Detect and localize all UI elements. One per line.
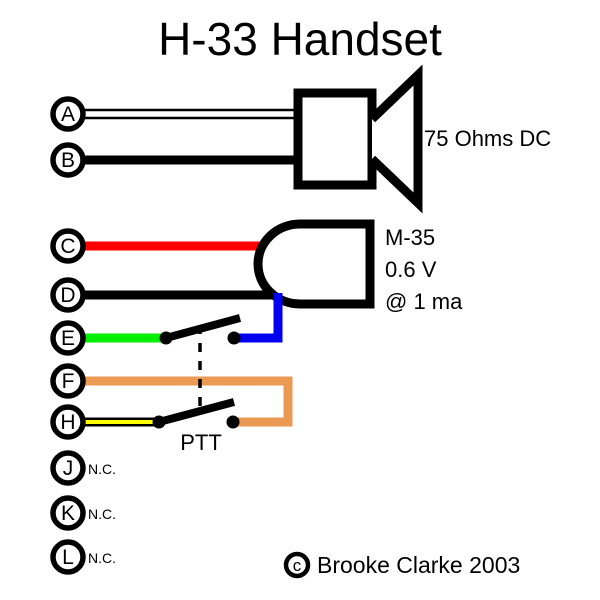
speaker-annotation: 75 Ohms DC [424,126,551,151]
microphone-body [258,224,370,304]
credit-line: c Brooke Clarke 2003 [286,552,520,578]
terminal-label: C [60,235,75,258]
terminal-label: F [62,370,75,393]
switch-contact-h-right [227,416,240,429]
terminal-label: E [61,327,75,350]
mic-annotation-model: M-35 [385,225,435,250]
terminal-d[interactable]: D [53,280,83,310]
speaker-body [298,93,372,185]
terminal-label: D [60,284,75,307]
terminal-a[interactable]: A [53,99,83,129]
speaker-group: 75 Ohms DC [84,75,551,203]
terminal-k[interactable]: K [53,498,83,528]
terminal-j[interactable]: J [53,453,83,483]
ptt-switch-group: PTT [84,293,288,455]
handset-wiring-diagram: H-33 Handset 75 Ohms DC M-35 [0,0,600,600]
terminal-c[interactable]: C [53,231,83,261]
wire-blue-to-mic [234,293,278,338]
mic-annotation-current: @ 1 ma [385,289,463,314]
nc-label-j: N.C. [88,461,116,477]
page-title: H-33 Handset [158,13,442,65]
terminal-f[interactable]: F [53,366,83,396]
terminal-label: H [60,411,75,434]
nc-label-k: N.C. [88,506,116,522]
diagram-canvas: H-33 Handset 75 Ohms DC M-35 [0,0,600,600]
terminal-label: B [61,149,75,172]
switch-contact-e-right [228,332,241,345]
terminal-h[interactable]: H [53,407,83,437]
credit-text: Brooke Clarke 2003 [317,552,520,578]
terminal-list: A B C D E F H [53,99,83,572]
switch-lever-lower[interactable] [159,402,234,422]
ptt-label: PTT [180,430,222,455]
speaker-cone [372,75,418,203]
terminal-b[interactable]: B [53,145,83,175]
terminal-l[interactable]: L [53,542,83,572]
no-connection-labels: N.C. N.C. N.C. [88,461,116,566]
wire-a-pair [84,110,300,118]
terminal-label: A [61,103,75,126]
mic-annotation-voltage: 0.6 V [385,257,437,282]
nc-label-l: N.C. [88,550,116,566]
terminal-label: K [61,502,75,525]
terminal-e[interactable]: E [53,323,83,353]
terminal-label: J [63,457,74,480]
copyright-icon-letter: c [293,556,302,575]
terminal-label: L [62,546,74,569]
